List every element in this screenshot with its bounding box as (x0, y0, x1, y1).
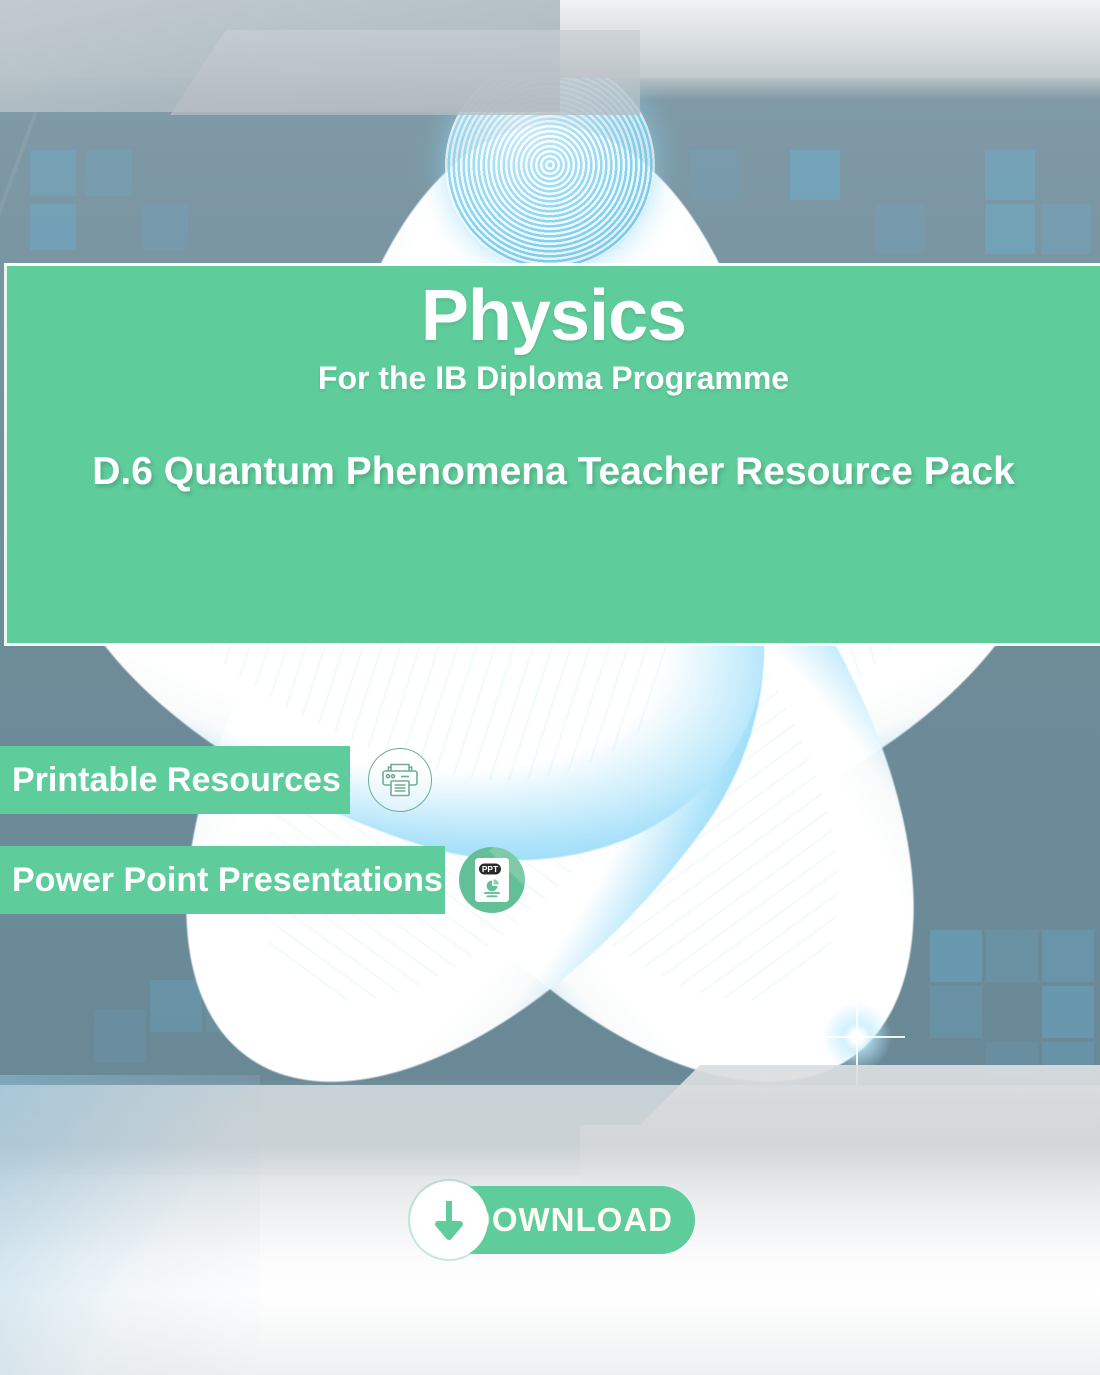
resource-row-powerpoint[interactable]: Power Point Presentations PPT (0, 846, 525, 914)
ppt-file-icon: PPT (472, 856, 512, 904)
resource-row-printable[interactable]: Printable Resources (0, 746, 432, 814)
printer-icon-wrap (350, 748, 432, 812)
resource-label: Printable Resources (12, 761, 341, 800)
page-title: Physics (7, 280, 1100, 352)
resource-label-bar: Power Point Presentations (0, 846, 445, 914)
download-label: DOWNLOAD (467, 1201, 673, 1239)
sparkle-highlight (822, 1002, 892, 1072)
page-subtitle: For the IB Diploma Programme (7, 358, 1100, 398)
resource-label: Power Point Presentations (12, 861, 443, 900)
resource-label-bar: Printable Resources (0, 746, 350, 814)
printer-icon (380, 761, 420, 799)
title-banner: Physics For the IB Diploma Programme D.6… (4, 263, 1100, 646)
download-arrow-icon (431, 1197, 467, 1243)
header-chevron-notch (170, 30, 640, 115)
resource-pack-title: D.6 Quantum Phenomena Teacher Resource P… (7, 450, 1100, 494)
ppt-icon-circle: PPT (459, 847, 525, 913)
cover-page: Physics For the IB Diploma Programme D.6… (0, 0, 1100, 1375)
download-icon-circle[interactable] (410, 1181, 488, 1259)
ppt-icon-wrap: PPT (445, 847, 525, 913)
footer-blue-glow (0, 1075, 260, 1375)
printer-icon-circle (368, 748, 432, 812)
download-button[interactable]: DOWNLOAD (410, 1186, 695, 1254)
ppt-badge-text: PPT (482, 864, 499, 874)
